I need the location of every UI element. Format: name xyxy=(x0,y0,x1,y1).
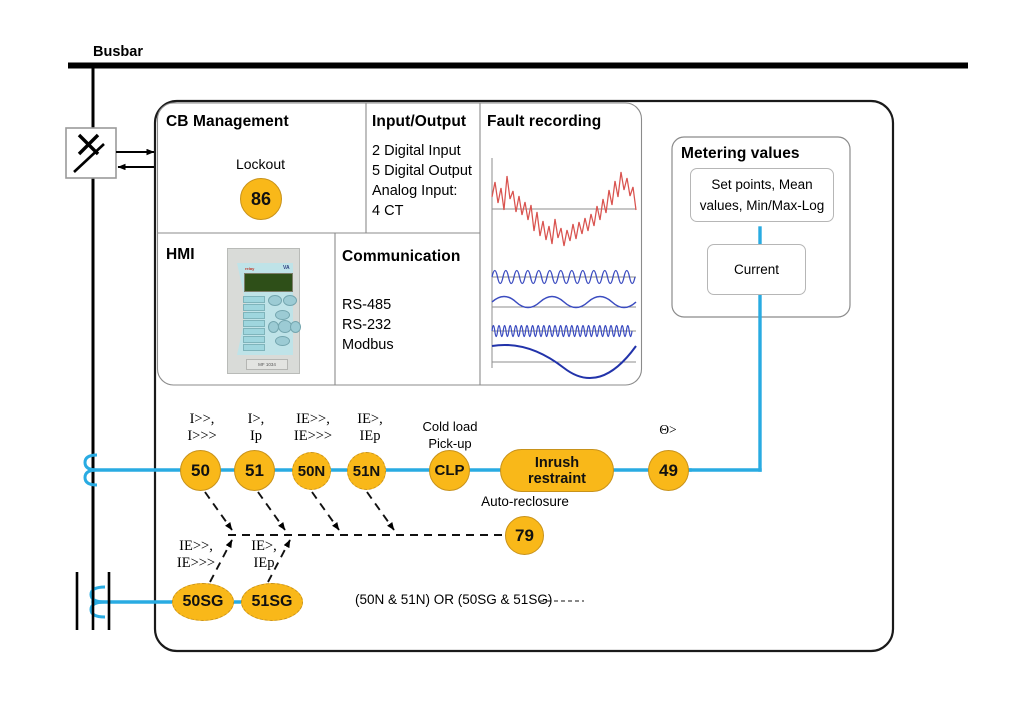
metering-current-box[interactable]: Current xyxy=(707,244,806,295)
node-51[interactable]: 51 xyxy=(234,450,275,491)
io-line-3: Analog Input: xyxy=(372,181,457,201)
metering-setpoints-line2: values, Min/Max-Log xyxy=(700,195,825,216)
node-inrush-restraint[interactable]: Inrush restraint xyxy=(500,449,614,492)
logic-footnote: (50N & 51N) OR (50SG & 51SG) xyxy=(355,592,552,607)
fault-recording-traces xyxy=(492,158,636,378)
hmi-led-3 xyxy=(243,312,265,319)
cb-management-title: CB Management xyxy=(166,113,289,131)
comm-line-3: Modbus xyxy=(342,335,394,355)
node-79[interactable]: 79 xyxy=(505,516,544,555)
diagram-vector-layer xyxy=(0,0,1024,722)
hmi-title: HMI xyxy=(166,246,195,264)
diagram-canvas: Busbar CB Management Lockout 86 Input/Ou… xyxy=(0,0,1024,722)
node-CLP[interactable]: CLP xyxy=(429,450,470,491)
node-51N[interactable]: 51N xyxy=(347,452,386,490)
communication-title: Communication xyxy=(342,248,460,266)
hmi-led-6 xyxy=(243,336,265,343)
label-51SG-line2: IEp xyxy=(224,555,304,572)
node-50N[interactable]: 50N xyxy=(292,452,331,490)
hmi-led-1 xyxy=(243,296,265,303)
trace-phase-b xyxy=(492,297,636,308)
label-51SG: IE>, IEp xyxy=(224,538,304,572)
hmi-led-4 xyxy=(243,320,265,327)
io-line-2: 5 Digital Output xyxy=(372,161,472,181)
label-51N: IE>, IEp xyxy=(330,411,410,445)
comm-line-2: RS-232 xyxy=(342,315,391,335)
ct-symbol-phase xyxy=(85,455,97,485)
hmi-led-7 xyxy=(243,344,265,351)
hmi-key-left[interactable] xyxy=(268,295,282,306)
label-49: Θ> xyxy=(631,421,705,438)
label-51N-line1: IE>, xyxy=(330,411,410,428)
inrush-line2: restraint xyxy=(528,471,586,487)
label-autoreclosure: Auto-reclosure xyxy=(465,494,585,509)
hmi-key-up[interactable] xyxy=(275,310,290,320)
fault-recording-title: Fault recording xyxy=(487,113,601,131)
node-50SG[interactable]: 50SG xyxy=(172,583,234,621)
busbar-label: Busbar xyxy=(93,44,143,60)
hmi-key-right[interactable] xyxy=(283,295,297,306)
hmi-logo-icon: VA xyxy=(283,265,290,271)
label-51N-line2: IEp xyxy=(330,428,410,445)
node-lockout-86[interactable]: 86 xyxy=(240,178,282,220)
trace-residual xyxy=(492,345,636,378)
inrush-line1: Inrush xyxy=(535,455,579,471)
label-51SG-line1: IE>, xyxy=(224,538,304,555)
metering-title: Metering values xyxy=(681,145,800,163)
hmi-brand-mark: relay xyxy=(245,266,254,271)
hmi-led-5 xyxy=(243,328,265,335)
comm-line-1: RS-485 xyxy=(342,295,391,315)
io-line-1: 2 Digital Input xyxy=(372,141,461,161)
trace-phase-a xyxy=(492,271,635,284)
label-CLP-line1: Cold load xyxy=(407,418,493,435)
circuit-breaker-symbol xyxy=(66,128,116,178)
hmi-device-tag: MF 1034 xyxy=(246,359,288,370)
metering-setpoints-box[interactable]: Set points, Mean values, Min/Max-Log xyxy=(690,168,834,222)
metering-setpoints-line1: Set points, Mean xyxy=(711,174,812,195)
node-50[interactable]: 50 xyxy=(180,450,221,491)
hmi-relay-device: relay VA MF 1034 xyxy=(227,248,300,374)
lockout-label: Lockout xyxy=(208,156,313,172)
hmi-led-2 xyxy=(243,304,265,311)
hmi-key-next[interactable] xyxy=(290,321,301,333)
node-49[interactable]: 49 xyxy=(648,450,689,491)
hmi-key-down[interactable] xyxy=(275,336,290,346)
input-output-title: Input/Output xyxy=(372,113,466,131)
io-line-4: 4 CT xyxy=(372,201,403,221)
label-CLP: Cold load Pick-up xyxy=(407,418,493,452)
node-51SG[interactable]: 51SG xyxy=(241,583,303,621)
hmi-lcd-display xyxy=(244,273,293,292)
